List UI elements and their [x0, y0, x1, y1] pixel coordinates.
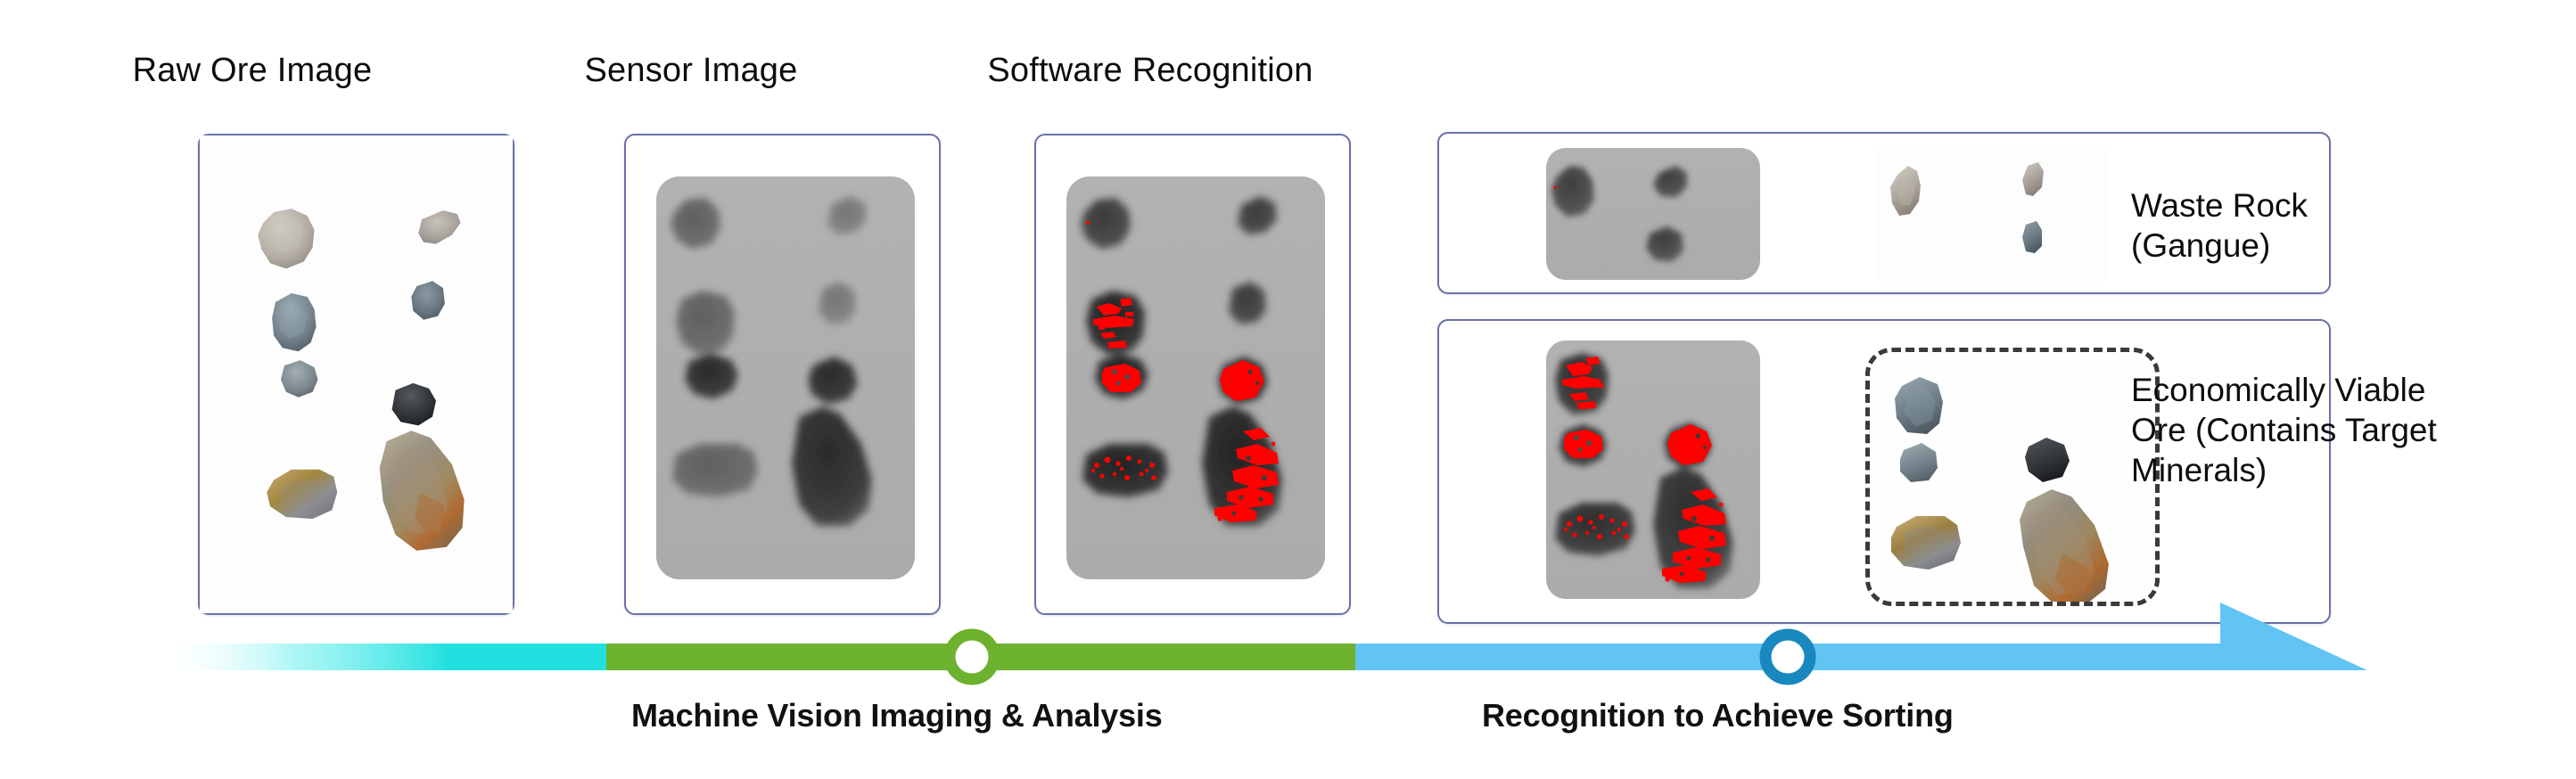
rock-blue-gray-mid-left: [272, 293, 316, 351]
viable-ore-photo-plate: [1865, 348, 2160, 606]
rock-blue-gray-mid-right: [411, 281, 445, 320]
timeline-segment-sorting: [1355, 644, 2256, 670]
side-label-viable-ore: Economically Viable Ore (Contains Target…: [2131, 370, 2550, 490]
rock-large-brown-bottom: [380, 430, 465, 550]
recognition-overlay: [1066, 176, 1325, 579]
recognition-plate: [1066, 176, 1325, 579]
timeline-arrowhead-base: [2220, 644, 2256, 670]
sensor-rock-shadows: [656, 176, 915, 579]
rock-light-gray-top-right: [418, 210, 460, 244]
timeline-marker-sorting: [1765, 635, 1810, 679]
raw-ore-plate: [200, 135, 513, 613]
raw-ore-rocks: [200, 135, 513, 613]
timeline-label-machine-vision: Machine Vision Imaging & Analysis: [631, 697, 1163, 734]
sensor-plate: [656, 176, 915, 579]
side-label-waste-rock: Waste Rock (Gangue): [2131, 185, 2550, 266]
side-label-waste-rock-line1: Waste Rock: [2131, 185, 2550, 225]
timeline-segment-intro: [156, 644, 606, 670]
recognition-panel[interactable]: [1034, 134, 1351, 615]
waste-rock-sensor-plate: [1546, 148, 1760, 280]
column-title-software-recognition: Software Recognition: [945, 52, 1355, 90]
timeline-marker-vision: [950, 635, 994, 679]
side-label-viable-ore-line2: Ore (Contains Target: [2131, 410, 2550, 450]
raw-ore-panel[interactable]: [198, 134, 514, 615]
viable-ore-photos: [1870, 352, 2155, 602]
waste-rock-photos: [1876, 146, 2108, 282]
column-title-raw-ore: Raw Ore Image: [132, 52, 373, 90]
waste-rock-photo-plate: [1876, 146, 2108, 282]
side-label-waste-rock-line2: (Gangue): [2131, 225, 2550, 266]
timeline-segment-vision: [606, 644, 1355, 670]
figure-canvas: Raw Ore Image Sensor Image Software Reco…: [0, 0, 2576, 779]
rock-gray-small-left: [281, 360, 318, 398]
rock-tan-bottom-left: [267, 470, 337, 519]
side-label-viable-ore-line1: Economically Viable: [2131, 370, 2550, 410]
waste-rock-sensor-shadows: [1546, 148, 1760, 280]
column-title-sensor-image: Sensor Image: [571, 52, 811, 90]
viable-ore-sensor-overlay: [1546, 340, 1760, 599]
viable-ore-sensor-plate: [1546, 340, 1760, 599]
rock-dark-right: [392, 383, 436, 425]
timeline-label-recognition-sorting: Recognition to Achieve Sorting: [1482, 697, 1954, 734]
sensor-panel[interactable]: [624, 134, 941, 615]
side-label-viable-ore-line3: Minerals): [2131, 450, 2550, 490]
rock-light-gray-top-left: [258, 209, 314, 268]
